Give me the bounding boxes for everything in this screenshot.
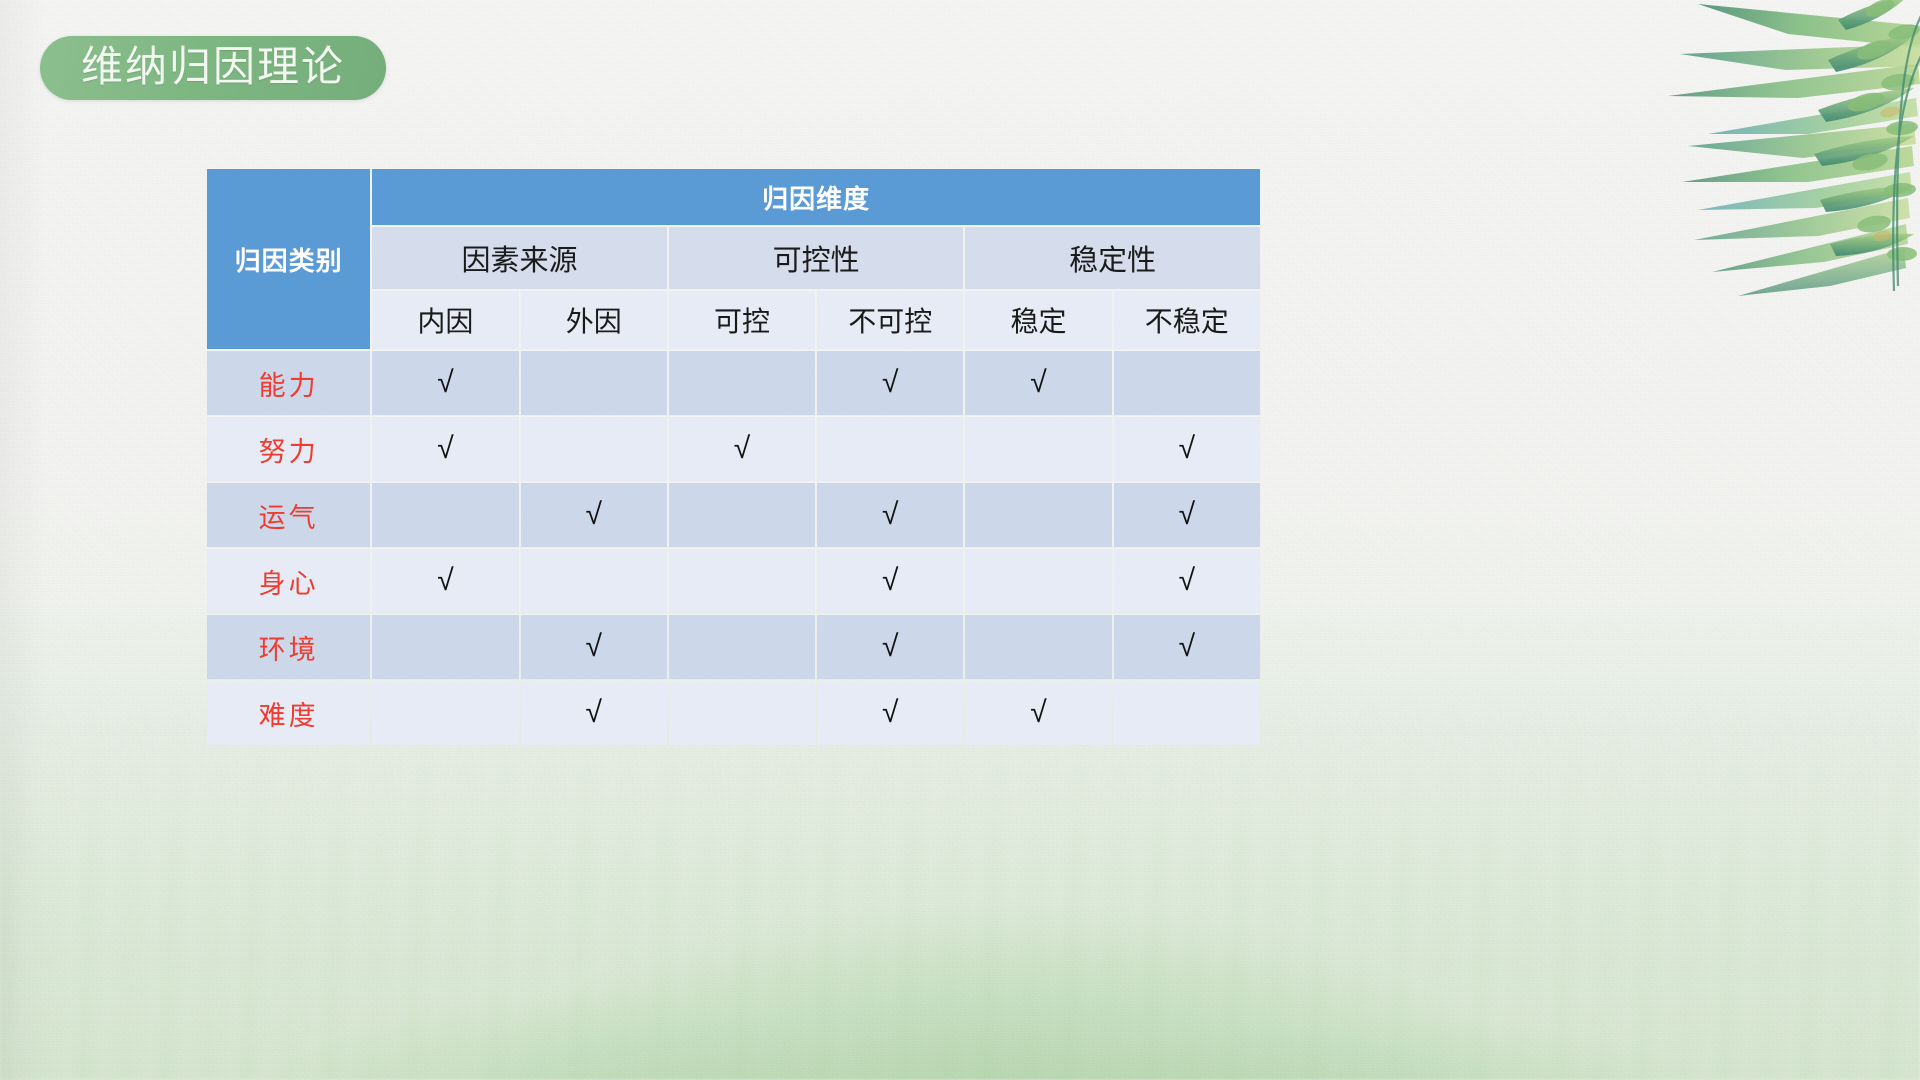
row-label-1: 努力 bbox=[207, 417, 370, 481]
cell-0-4: √ bbox=[965, 351, 1111, 415]
check-mark-icon: √ bbox=[437, 366, 453, 399]
slide-title-badge: 维纳归因理论 bbox=[40, 36, 386, 100]
page-title: 维纳归因理论 bbox=[81, 47, 345, 89]
table-header-row-1: 归因类别归因维度 bbox=[207, 169, 1260, 225]
cell-2-0 bbox=[372, 483, 518, 547]
cell-3-0: √ bbox=[372, 549, 518, 613]
cell-3-2 bbox=[669, 549, 815, 613]
cell-4-2 bbox=[669, 615, 815, 679]
check-mark-icon: √ bbox=[734, 432, 750, 465]
cell-1-4 bbox=[965, 417, 1111, 481]
check-mark-icon: √ bbox=[1179, 498, 1195, 531]
cell-0-1 bbox=[521, 351, 667, 415]
cell-1-0: √ bbox=[372, 417, 518, 481]
table-row: 运气√√√ bbox=[207, 483, 1260, 547]
check-mark-icon: √ bbox=[1030, 366, 1046, 399]
header-sub-0: 内因 bbox=[372, 291, 518, 349]
table-row: 难度√√√ bbox=[207, 681, 1260, 745]
cell-3-5: √ bbox=[1114, 549, 1260, 613]
check-mark-icon: √ bbox=[437, 432, 453, 465]
header-group-0: 因素来源 bbox=[372, 227, 667, 289]
check-mark-icon: √ bbox=[585, 630, 601, 663]
cell-5-5 bbox=[1114, 681, 1260, 745]
cell-4-4 bbox=[965, 615, 1111, 679]
cell-1-5: √ bbox=[1114, 417, 1260, 481]
cell-2-4 bbox=[965, 483, 1111, 547]
cell-0-0: √ bbox=[372, 351, 518, 415]
header-category: 归因类别 bbox=[207, 169, 370, 349]
table-row: 努力√√√ bbox=[207, 417, 1260, 481]
attribution-table-wrapper: 归因类别归因维度因素来源可控性稳定性内因外因可控不可控稳定不稳定能力√√√努力√… bbox=[205, 167, 1262, 747]
header-dimension: 归因维度 bbox=[372, 169, 1260, 225]
row-label-3: 身心 bbox=[207, 549, 370, 613]
check-mark-icon: √ bbox=[1030, 696, 1046, 729]
left-edge-shadow bbox=[0, 0, 46, 1080]
row-label-4: 环境 bbox=[207, 615, 370, 679]
check-mark-icon: √ bbox=[882, 696, 898, 729]
cell-3-4 bbox=[965, 549, 1111, 613]
cell-0-5 bbox=[1114, 351, 1260, 415]
cell-0-2 bbox=[669, 351, 815, 415]
check-mark-icon: √ bbox=[437, 564, 453, 597]
cell-0-3: √ bbox=[817, 351, 963, 415]
cell-4-1: √ bbox=[521, 615, 667, 679]
cell-5-0 bbox=[372, 681, 518, 745]
check-mark-icon: √ bbox=[882, 564, 898, 597]
cell-2-3: √ bbox=[817, 483, 963, 547]
table-row: 能力√√√ bbox=[207, 351, 1260, 415]
cell-3-3: √ bbox=[817, 549, 963, 613]
cell-3-1 bbox=[521, 549, 667, 613]
cell-5-2 bbox=[669, 681, 815, 745]
cell-1-2: √ bbox=[669, 417, 815, 481]
cell-4-5: √ bbox=[1114, 615, 1260, 679]
check-mark-icon: √ bbox=[1179, 630, 1195, 663]
table-row: 环境√√√ bbox=[207, 615, 1260, 679]
cell-5-1: √ bbox=[521, 681, 667, 745]
check-mark-icon: √ bbox=[1179, 564, 1195, 597]
cell-5-4: √ bbox=[965, 681, 1111, 745]
cell-4-0 bbox=[372, 615, 518, 679]
row-label-5: 难度 bbox=[207, 681, 370, 745]
check-mark-icon: √ bbox=[585, 696, 601, 729]
check-mark-icon: √ bbox=[882, 366, 898, 399]
header-sub-5: 不稳定 bbox=[1114, 291, 1260, 349]
header-group-2: 稳定性 bbox=[965, 227, 1260, 289]
cell-1-1 bbox=[521, 417, 667, 481]
row-label-2: 运气 bbox=[207, 483, 370, 547]
check-mark-icon: √ bbox=[882, 630, 898, 663]
header-group-1: 可控性 bbox=[669, 227, 964, 289]
cell-4-3: √ bbox=[817, 615, 963, 679]
cell-1-3 bbox=[817, 417, 963, 481]
row-label-0: 能力 bbox=[207, 351, 370, 415]
attribution-table: 归因类别归因维度因素来源可控性稳定性内因外因可控不可控稳定不稳定能力√√√努力√… bbox=[205, 167, 1262, 747]
check-mark-icon: √ bbox=[1179, 432, 1195, 465]
cell-2-5: √ bbox=[1114, 483, 1260, 547]
cell-5-3: √ bbox=[817, 681, 963, 745]
header-sub-2: 可控 bbox=[669, 291, 815, 349]
table-row: 身心√√√ bbox=[207, 549, 1260, 613]
check-mark-icon: √ bbox=[585, 498, 601, 531]
cell-2-2 bbox=[669, 483, 815, 547]
header-sub-1: 外因 bbox=[521, 291, 667, 349]
header-sub-3: 不可控 bbox=[817, 291, 963, 349]
cell-2-1: √ bbox=[521, 483, 667, 547]
check-mark-icon: √ bbox=[882, 498, 898, 531]
header-sub-4: 稳定 bbox=[965, 291, 1111, 349]
